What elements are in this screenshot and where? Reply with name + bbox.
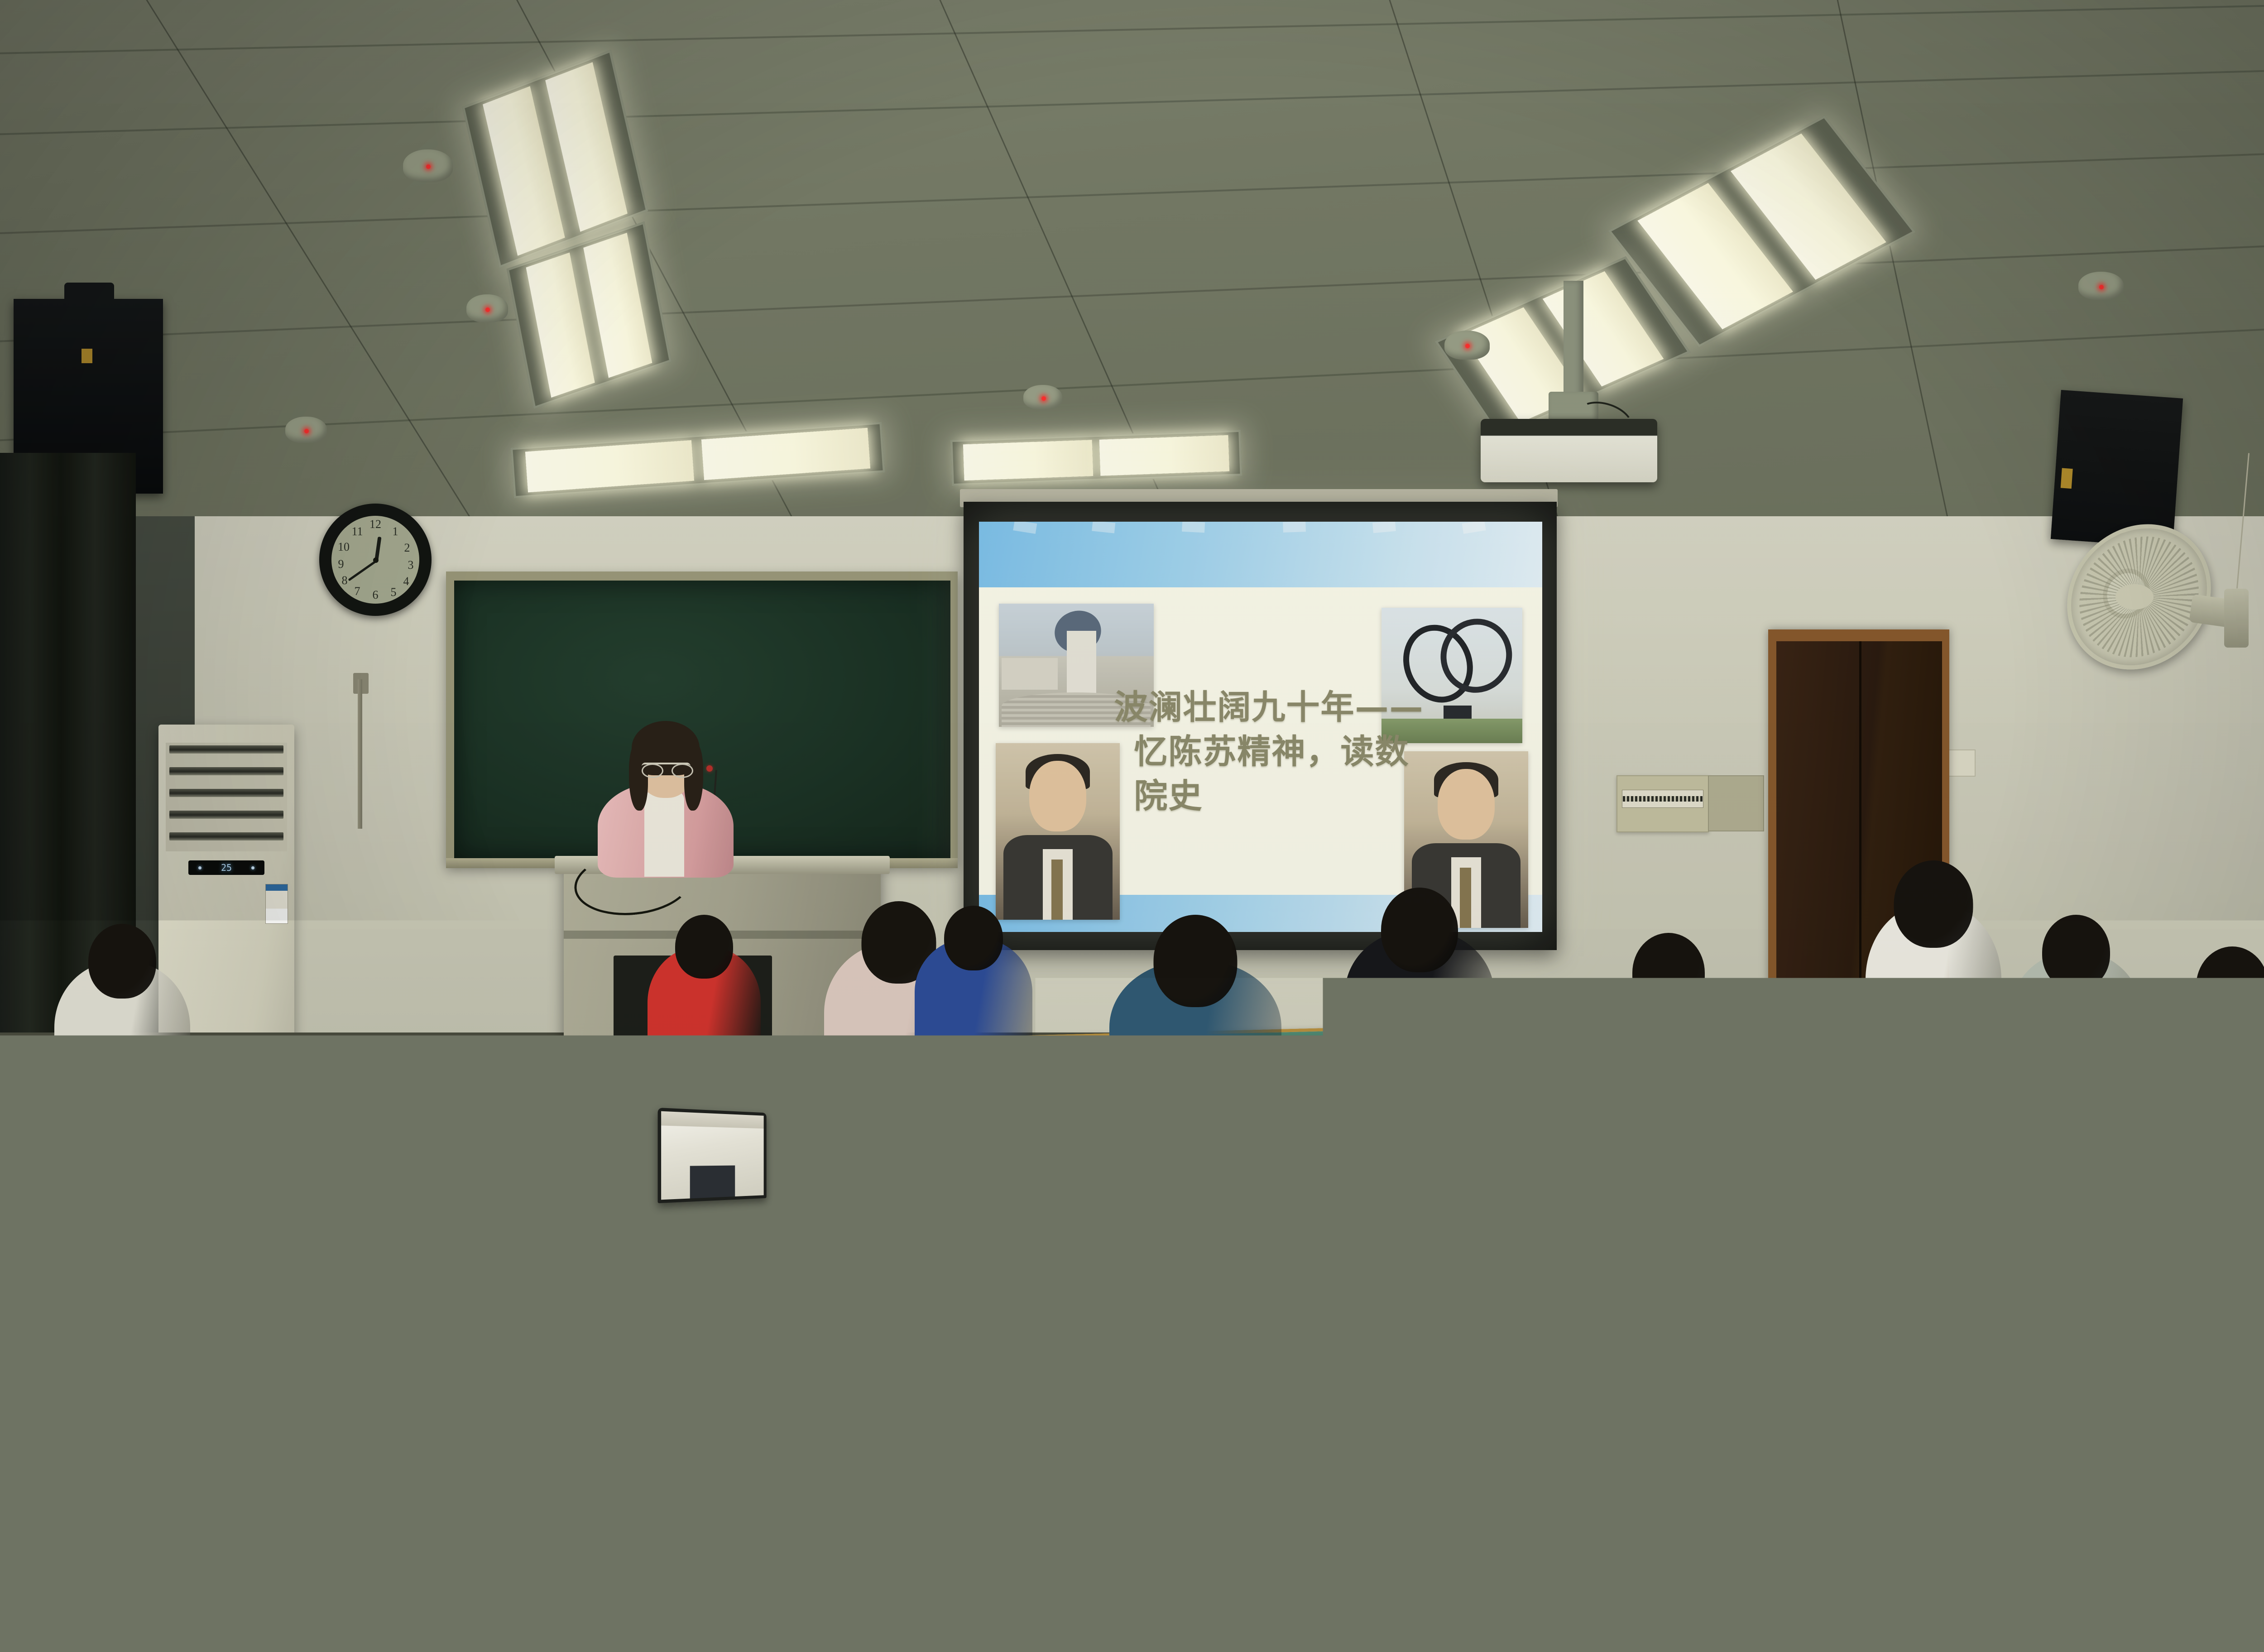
paper-sheets <box>872 1151 971 1191</box>
projection-screen[interactable]: 波澜壮阔九十年—— 忆陈苏精神，读数院史 <box>964 502 1557 950</box>
audience-member-head <box>1154 915 1238 1007</box>
audience-member-head <box>2042 915 2110 989</box>
audience-member-head <box>138 1381 288 1546</box>
ceiling-light-fixture <box>510 422 885 498</box>
ac-display-panel: 25 <box>188 860 264 875</box>
clock-face: 12 1 2 3 4 5 6 7 8 9 10 11 <box>331 516 419 604</box>
audience-member-head <box>1381 888 1458 972</box>
slide-title: 波澜壮阔九十年—— 忆陈苏精神，读数院史 <box>1114 686 1441 818</box>
clock-numeral: 11 <box>350 525 364 538</box>
scholar-portrait-chen <box>996 743 1120 920</box>
presenter-glasses-lens <box>642 764 663 778</box>
ac-energy-label <box>265 884 288 924</box>
smoke-detector-icon <box>1023 385 1062 409</box>
water-bottle <box>1395 1042 1420 1096</box>
clock-numeral: 7 <box>350 585 364 598</box>
backpack <box>1254 1089 1377 1193</box>
audience-member-head <box>1871 1209 1996 1346</box>
audience-member-head <box>1379 1196 1510 1340</box>
fluorescent-tube <box>963 440 1093 480</box>
audience-member-head <box>675 915 733 979</box>
clock-numeral: 1 <box>389 525 402 538</box>
audience-member <box>878 1223 1159 1603</box>
audience-member-head <box>364 1087 461 1194</box>
presenter-glasses-lens <box>672 764 693 778</box>
fluorescent-tube <box>583 233 652 378</box>
audience-member <box>2010 915 2142 1087</box>
breaker-panel[interactable] <box>1616 775 1709 832</box>
fluorescent-tube <box>1099 435 1230 476</box>
wall-fan[interactable] <box>2065 521 2246 670</box>
audience-member <box>1866 860 2001 1069</box>
audience-member <box>54 1381 371 1652</box>
audience-member <box>54 924 190 1105</box>
fluorescent-tube <box>701 428 870 480</box>
clock-center-pin <box>373 557 379 563</box>
fan-hub <box>2115 584 2154 610</box>
projector-mount-pole <box>1564 281 1583 403</box>
audience-member-head <box>1546 1042 1641 1146</box>
clock-numeral: 4 <box>399 575 413 588</box>
smartphone-mid-desk[interactable] <box>793 1253 871 1283</box>
shoulder-bag <box>1295 1440 1440 1558</box>
audience-member <box>648 915 761 1069</box>
pointer-rod <box>358 679 362 829</box>
speaker-badge-icon <box>82 349 92 363</box>
speaker-badge-icon <box>2061 468 2073 489</box>
clock-numeral: 5 <box>387 586 400 599</box>
slide-title-line-2: 忆陈苏精神，读数院史 <box>1114 730 1441 818</box>
audience-member <box>317 1087 507 1359</box>
audience-member-head <box>951 1223 1087 1372</box>
audience-member <box>915 906 1032 1055</box>
audience-member <box>525 1259 779 1612</box>
blank-wall-panel <box>1708 775 1764 831</box>
fluorescent-tube <box>526 252 595 398</box>
ceiling-light-fixture <box>950 430 1242 486</box>
audience-member-head <box>559 1087 659 1196</box>
audience-member-head <box>1632 933 1705 1013</box>
wall-clock: 12 1 2 3 4 5 6 7 8 9 10 11 <box>319 504 432 616</box>
clock-minute-hand <box>348 560 376 581</box>
audience-member <box>1807 1209 2060 1553</box>
lecture-hall-photo: 12 1 2 3 4 5 6 7 8 9 10 11 <box>0 0 2264 1652</box>
clock-numeral: 10 <box>337 540 350 554</box>
smoke-detector-icon <box>2078 272 2124 300</box>
fan-wall-bracket <box>2224 589 2249 648</box>
smoke-detector-icon <box>466 294 508 322</box>
audience-member-head <box>590 1259 715 1396</box>
laptop-toolbar <box>661 1111 764 1129</box>
laptop-screen-block <box>690 1165 735 1198</box>
presenter-shirt <box>644 791 684 877</box>
clock-numeral: 9 <box>334 557 348 571</box>
audience-member-head <box>1942 1064 2039 1172</box>
presenter-hair-side <box>629 743 648 811</box>
audience-member-head <box>1894 860 1973 948</box>
presenter <box>591 725 740 874</box>
audience-member <box>1345 888 1494 1069</box>
slide-top-band <box>979 522 1542 587</box>
clock-numeral: 6 <box>369 588 382 602</box>
ac-temperature-value: 25 <box>221 862 232 873</box>
smoke-detector-icon <box>285 417 327 443</box>
smoke-detector-icon <box>1444 331 1490 360</box>
water-bottle <box>2210 1214 2233 1272</box>
laptop[interactable] <box>658 1108 767 1203</box>
ceiling <box>0 0 2264 534</box>
audience-member-head <box>944 906 1003 970</box>
presentation-slide: 波澜壮阔九十年—— 忆陈苏精神，读数院史 <box>979 522 1542 932</box>
clock-numeral: 3 <box>404 558 417 572</box>
clock-numeral: 12 <box>369 518 382 531</box>
fluorescent-tube <box>525 440 694 492</box>
audience-member-head <box>88 924 156 999</box>
audience-member <box>2124 1277 2264 1652</box>
audience-member-head <box>2196 946 2264 1026</box>
audience-member <box>1109 915 1281 1105</box>
audience-member-head <box>1720 1023 1808 1121</box>
clock-numeral: 2 <box>400 541 414 555</box>
smoke-detector-icon <box>403 149 453 182</box>
slide-title-line-1: 波澜壮阔九十年—— <box>1114 688 1424 727</box>
